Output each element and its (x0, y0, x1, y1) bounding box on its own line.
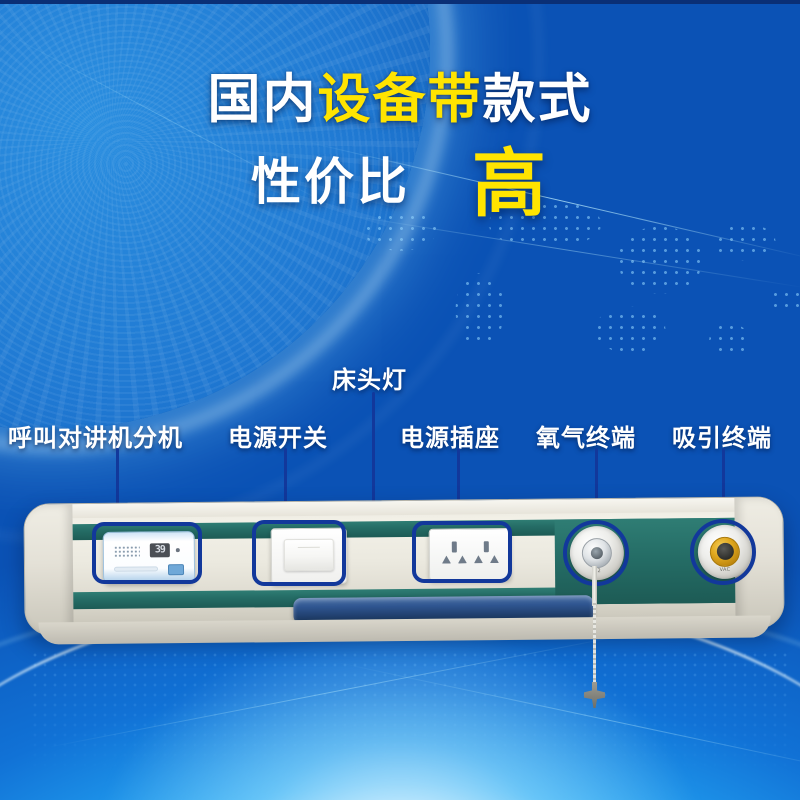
horizon-glow (90, 620, 710, 800)
highlight-box-socket (412, 521, 512, 583)
callout-label-intercom: 呼叫对讲机分机 (8, 418, 183, 453)
highlight-circle-suction (690, 519, 756, 585)
rail-endcap-left (24, 504, 73, 634)
top-edge-band (0, 0, 800, 4)
callout-label-oxygen: 氧气终端 (536, 418, 636, 453)
callout-label-switch: 电源开关 (228, 418, 328, 453)
highlight-box-intercom (92, 522, 202, 584)
callout-label-socket: 电源插座 (400, 418, 500, 453)
highlight-box-switch (252, 520, 346, 586)
product-banner: 国内设备带款式 性价比高 呼叫对讲机分机 电源开关 床头灯 电源插座 氧气终端 … (0, 0, 800, 800)
callout-label-bedlamp: 床头灯 (332, 360, 407, 395)
pull-cord[interactable] (593, 600, 596, 688)
